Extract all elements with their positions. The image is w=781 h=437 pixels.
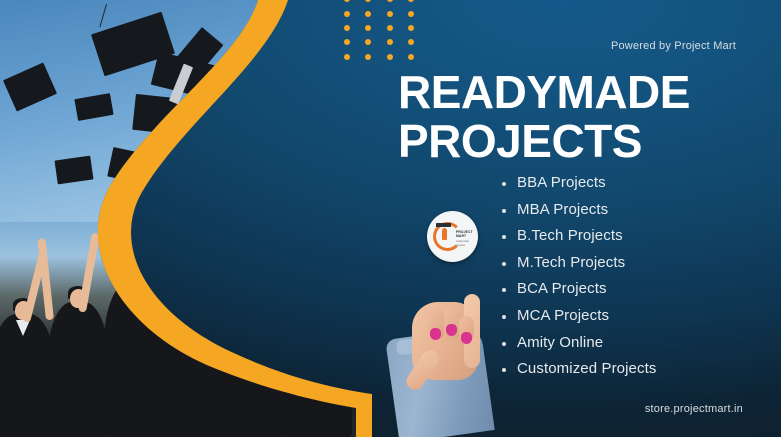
list-item[interactable]: M.Tech Projects: [500, 254, 656, 271]
page-title: READYMADE PROJECTS: [398, 68, 738, 166]
grid-dot: [344, 0, 350, 2]
grid-dot: [408, 0, 414, 2]
promo-banner: Powered by Project Mart READYMADE PROJEC…: [0, 0, 781, 437]
powered-by-label: Powered by Project Mart: [611, 40, 736, 52]
grid-dot: [344, 39, 350, 45]
grid-dot: [365, 11, 371, 17]
list-item[interactable]: Customized Projects: [500, 360, 656, 377]
graduation-cap-icon: [74, 93, 113, 121]
grid-dot: [365, 0, 371, 2]
grid-dot: [408, 25, 414, 31]
badge-figure-icon: [442, 228, 447, 240]
hand-palm: [412, 302, 478, 380]
graduation-cap-icon: [436, 223, 451, 227]
fingernail: [430, 328, 441, 340]
grid-dot: [365, 39, 371, 45]
project-types-list: BBA Projects MBA Projects B.Tech Project…: [500, 174, 656, 387]
grid-dot: [387, 25, 393, 31]
list-item[interactable]: MCA Projects: [500, 307, 656, 324]
grid-dot: [344, 54, 350, 60]
dot-grid-icon: [336, 0, 422, 64]
grid-dot: [408, 11, 414, 17]
grid-dot: [387, 0, 393, 2]
list-item[interactable]: MBA Projects: [500, 201, 656, 218]
grid-dot: [365, 25, 371, 31]
store-url-label[interactable]: store.projectmart.in: [645, 403, 743, 415]
grid-dot: [387, 11, 393, 17]
list-item[interactable]: BCA Projects: [500, 280, 656, 297]
fingernail: [446, 324, 457, 336]
list-item[interactable]: Amity Online: [500, 334, 656, 351]
graduate-figure: [0, 314, 54, 437]
grid-dot: [365, 54, 371, 60]
grid-dot: [408, 54, 414, 60]
graduate-figure: [48, 302, 108, 437]
list-item[interactable]: BBA Projects: [500, 174, 656, 191]
grid-dot: [344, 25, 350, 31]
list-item[interactable]: B.Tech Projects: [500, 227, 656, 244]
grid-dot: [344, 11, 350, 17]
graduate-collar: [16, 320, 30, 336]
graduation-cap-icon: [3, 63, 57, 112]
badge-brand-text: PROJECT MART readymade projects: [456, 230, 478, 247]
graduation-cap-icon: [55, 156, 94, 185]
raised-arm: [78, 233, 100, 313]
grid-dot: [387, 39, 393, 45]
badge-brand-secondary: MART: [456, 234, 466, 238]
pointing-hand-icon: [392, 252, 516, 437]
grid-dot: [387, 54, 393, 60]
cap-tassel: [99, 4, 107, 27]
brand-badge[interactable]: PROJECT MART readymade projects: [427, 211, 478, 262]
headline-line-1: READYMADE: [398, 66, 690, 118]
badge-tagline: readymade projects: [456, 240, 469, 247]
headline-line-2: PROJECTS: [398, 117, 738, 166]
grid-dot: [408, 39, 414, 45]
fingernail: [461, 332, 472, 344]
